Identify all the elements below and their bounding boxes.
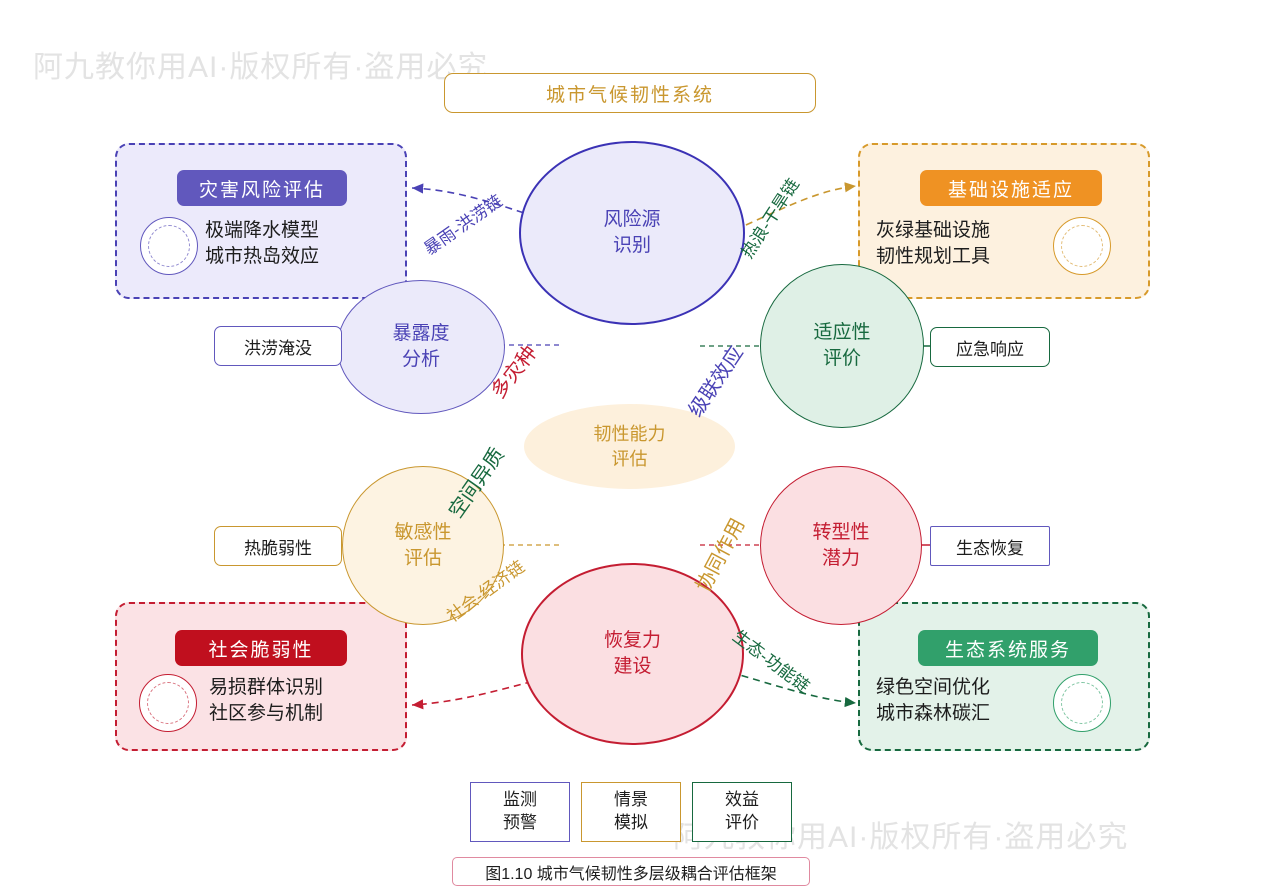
circle-risk-source-identification[interactable]: 风险源 识别 <box>519 141 745 325</box>
panel-disaster-risk-items: 极端降水模型 城市热岛效应 <box>205 218 319 269</box>
panel-disaster-risk-badge: 灾害风险评估 <box>177 170 347 206</box>
legend-item-scenario-simulation[interactable]: 情景 模拟 <box>581 782 681 842</box>
panel-disaster-risk[interactable]: 灾害风险评估 极端降水模型 城市热岛效应 <box>115 143 407 299</box>
chain-label-heat-drought: 热浪-干旱链 <box>734 173 804 263</box>
decorative-circle-icon <box>1053 674 1111 732</box>
panel-social-vulnerability[interactable]: 社会脆弱性 易损群体识别 社区参与机制 <box>115 602 407 751</box>
chain-label-synergy: 协同作用 <box>687 512 750 596</box>
tag-ecological-restoration[interactable]: 生态恢复 <box>930 526 1050 566</box>
decorative-circle-icon <box>140 217 198 275</box>
circle-adaptability-evaluation[interactable]: 适应性 评价 <box>760 264 924 428</box>
chain-label-rain-flood: 暴雨-洪涝链 <box>418 187 507 259</box>
tag-flood-inundation[interactable]: 洪涝淹没 <box>214 326 342 366</box>
panel-ecosystem-services-badge: 生态系统服务 <box>918 630 1098 666</box>
panel-ecosystem-services-items: 绿色空间优化 城市森林碳汇 <box>876 675 990 726</box>
panel-infrastructure-adaptation[interactable]: 基础设施适应 灰绿基础设施 韧性规划工具 <box>858 143 1150 299</box>
diagram-title: 城市气候韧性系统 <box>444 73 816 113</box>
tag-heat-vulnerability[interactable]: 热脆弱性 <box>214 526 342 566</box>
panel-social-vulnerability-badge: 社会脆弱性 <box>175 630 347 666</box>
panel-social-vulnerability-items: 易损群体识别 社区参与机制 <box>209 675 323 726</box>
panel-ecosystem-services[interactable]: 生态系统服务 绿色空间优化 城市森林碳汇 <box>858 602 1150 751</box>
circle-exposure-analysis[interactable]: 暴露度 分析 <box>337 280 505 414</box>
legend-item-monitoring-warning[interactable]: 监测 预警 <box>470 782 570 842</box>
tag-emergency-response[interactable]: 应急响应 <box>930 327 1050 367</box>
panel-infrastructure-badge: 基础设施适应 <box>920 170 1102 206</box>
decorative-circle-icon <box>139 674 197 732</box>
circle-transformation-potential[interactable]: 转型性 潜力 <box>760 466 922 625</box>
decorative-circle-icon <box>1053 217 1111 275</box>
panel-infrastructure-items: 灰绿基础设施 韧性规划工具 <box>876 218 990 269</box>
chain-label-cascade-effect: 级联效应 <box>680 339 749 422</box>
figure-caption: 图1.10 城市气候韧性多层级耦合评估框架 <box>452 857 810 886</box>
legend-item-benefit-evaluation[interactable]: 效益 评价 <box>692 782 792 842</box>
watermark-top: 阿九教你用AI·版权所有·盗用必究 <box>33 42 488 86</box>
